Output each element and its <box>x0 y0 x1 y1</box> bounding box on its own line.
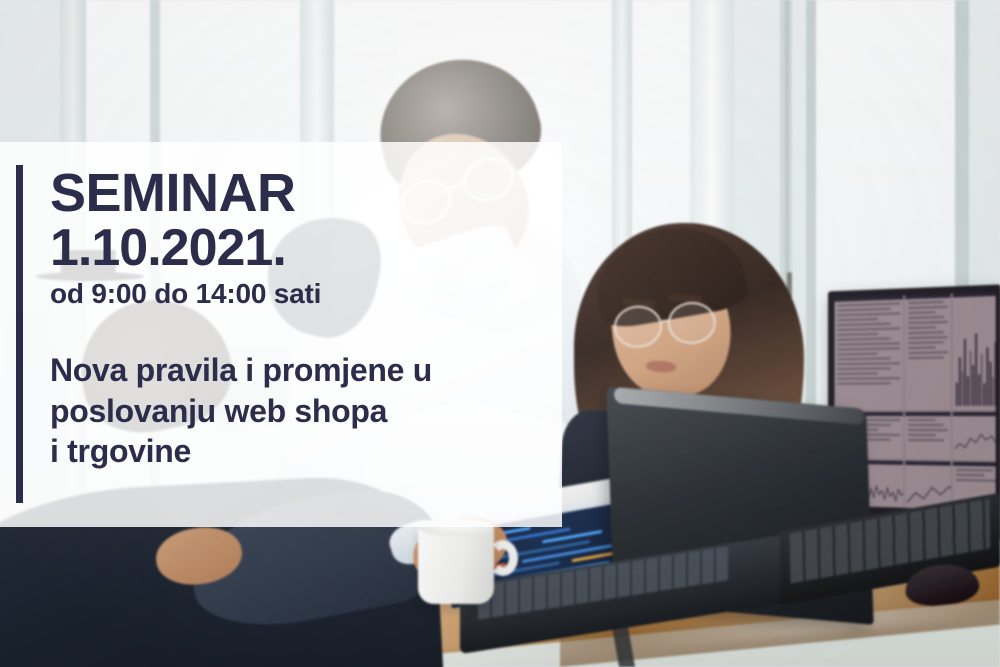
seminar-time: od 9:00 do 14:00 sati <box>50 278 546 309</box>
subject-line-2: poslovanju web shopa <box>50 391 546 432</box>
seminar-banner: SEMINAR 1.10.2021. od 9:00 do 14:00 sati… <box>0 0 1000 667</box>
screen-pane-line-chart <box>953 412 996 460</box>
woman-glasses-icon <box>611 299 744 354</box>
page-title: SEMINAR <box>50 152 546 221</box>
seminar-text-panel: SEMINAR 1.10.2021. od 9:00 do 14:00 sati… <box>0 142 562 527</box>
screen-pane-bar-chart <box>953 292 996 410</box>
line-chart-svg <box>955 429 996 456</box>
seminar-subject: Nova pravila i promjene u poslovanju web… <box>50 350 546 473</box>
screen-pane-detail <box>905 412 951 459</box>
accent-bar <box>16 165 23 503</box>
bar-chart <box>956 326 996 406</box>
subject-line-3: i trgovine <box>50 431 546 472</box>
panel-content: SEMINAR 1.10.2021. od 9:00 do 14:00 sati… <box>50 152 546 472</box>
screen-pane-list <box>905 294 951 411</box>
coffee-mug <box>418 524 494 604</box>
subject-line-1: Nova pravila i promjene u <box>50 350 546 391</box>
seminar-date: 1.10.2021. <box>50 221 546 276</box>
